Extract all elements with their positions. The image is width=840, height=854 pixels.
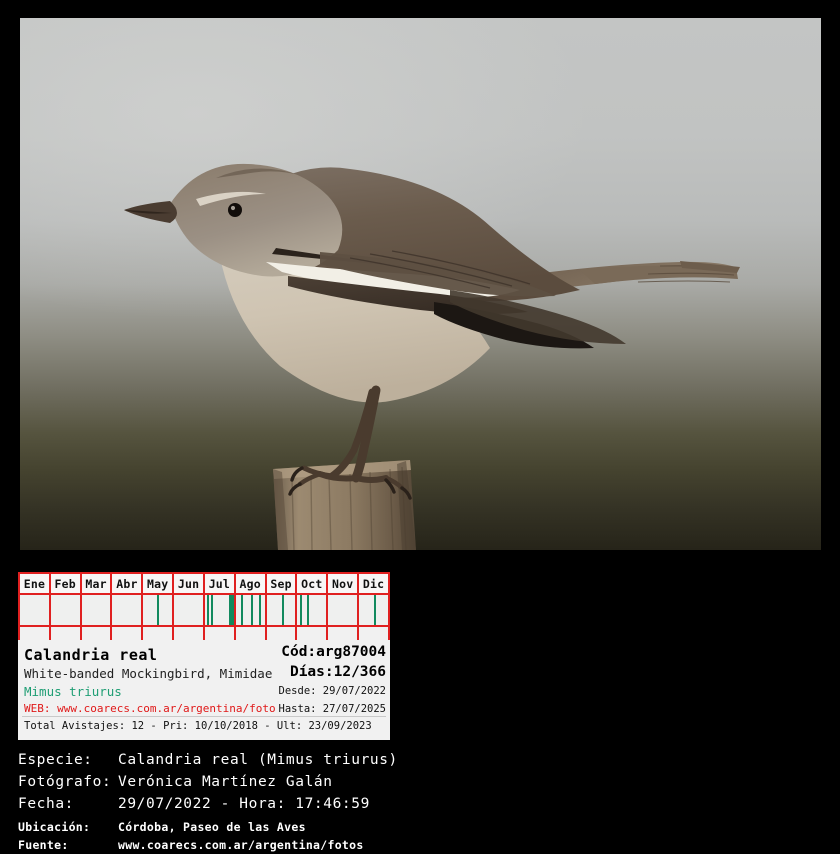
calendar-cell-oct — [297, 595, 328, 625]
sighting-tick — [300, 595, 302, 625]
meta-value-fuente[interactable]: www.coarecs.com.ar/argentina/fotos — [118, 838, 364, 852]
calendar-month-jun[interactable]: Jun — [174, 574, 205, 593]
calendar-cell-jul — [205, 595, 236, 625]
sighting-tick — [207, 595, 209, 625]
card-date-from: Desde: 29/07/2022 — [279, 685, 386, 697]
bird-photo — [20, 18, 821, 550]
meta-value-ubicacion: Córdoba, Paseo de las Aves — [118, 820, 306, 834]
species-scientific-name: Mimus triurus — [24, 684, 122, 699]
card-date-to: Hasta: 27/07/2025 — [279, 703, 386, 715]
calendar-foot-nov — [328, 627, 359, 640]
sighting-tick — [282, 595, 284, 625]
calendar-cell-mar — [82, 595, 113, 625]
sighting-tick — [374, 595, 376, 625]
calendar-cell-jun — [174, 595, 205, 625]
bird-illustration — [20, 18, 821, 550]
calendar-foot-sep — [267, 627, 298, 640]
photo-metadata: Especie: Calandria real (Mimus triurus) … — [0, 748, 840, 854]
card-code: Cód:arg87004 — [281, 644, 386, 660]
sighting-tick — [259, 595, 261, 625]
sighting-tick — [307, 595, 309, 625]
calendar-foot-jul — [205, 627, 236, 640]
calendar-cell-nov — [328, 595, 359, 625]
calendar-month-header: EneFebMarAbrMayJunJulAgoSepOctNovDic — [18, 572, 390, 595]
card-text-block: Calandria real White-banded Mockingbird,… — [18, 640, 390, 742]
calendar-foot-jun — [174, 627, 205, 640]
calendar-month-ene[interactable]: Ene — [18, 574, 51, 593]
calendar-month-nov[interactable]: Nov — [328, 574, 359, 593]
calendar-foot-feb — [51, 627, 82, 640]
card-web-link[interactable]: WEB: www.coarecs.com.ar/argentina/foto — [24, 702, 276, 715]
calendar-cell-feb — [51, 595, 82, 625]
calendar-month-abr[interactable]: Abr — [112, 574, 143, 593]
calendar-footer-row — [18, 627, 390, 640]
calendar-month-feb[interactable]: Feb — [51, 574, 82, 593]
calendar-month-oct[interactable]: Oct — [297, 574, 328, 593]
calendar-foot-ago — [236, 627, 267, 640]
meta-label-fotografo: Fotógrafo: — [18, 774, 111, 790]
sighting-tick — [157, 595, 159, 625]
calendar-foot-abr — [112, 627, 143, 640]
meta-value-fotografo: Verónica Martínez Galán — [118, 774, 333, 790]
calendar-month-mar[interactable]: Mar — [82, 574, 113, 593]
calendar-cell-ago — [236, 595, 267, 625]
calendar-month-may[interactable]: May — [143, 574, 174, 593]
card-divider — [22, 716, 386, 717]
calendar-foot-mar — [82, 627, 113, 640]
sighting-card: EneFebMarAbrMayJunJulAgoSepOctNovDic Cal… — [18, 572, 390, 740]
sighting-tick — [241, 595, 243, 625]
calendar-month-sep[interactable]: Sep — [267, 574, 298, 593]
calendar-month-ago[interactable]: Ago — [236, 574, 267, 593]
calendar-foot-dic — [359, 627, 390, 640]
calendar-tick-row — [18, 595, 390, 627]
meta-label-fecha: Fecha: — [18, 796, 74, 812]
card-days: Días:12/366 — [290, 664, 386, 680]
meta-value-especie: Calandria real (Mimus triurus) — [118, 752, 398, 768]
calendar-foot-may — [143, 627, 174, 640]
meta-label-fuente: Fuente: — [18, 838, 69, 852]
species-common-name-en: White-banded Mockingbird, Mimidae — [24, 666, 272, 681]
meta-label-especie: Especie: — [18, 752, 93, 768]
meta-label-ubicacion: Ubicación: — [18, 820, 90, 834]
bird-eye — [228, 203, 242, 217]
card-total-sightings: Total Avistajes: 12 - Pri: 10/10/2018 - … — [24, 720, 372, 732]
calendar-cell-sep — [267, 595, 298, 625]
calendar-month-jul[interactable]: Jul — [205, 574, 236, 593]
species-common-name-es: Calandria real — [24, 646, 157, 664]
calendar-foot-oct — [297, 627, 328, 640]
calendar-foot-ene — [18, 627, 51, 640]
calendar-cell-may — [143, 595, 174, 625]
calendar-cell-abr — [112, 595, 143, 625]
calendar-cell-ene — [18, 595, 51, 625]
calendar-cell-dic — [359, 595, 390, 625]
sighting-tick — [211, 595, 213, 625]
meta-value-fecha: 29/07/2022 - Hora: 17:46:59 — [118, 796, 370, 812]
sighting-calendar[interactable]: EneFebMarAbrMayJunJulAgoSepOctNovDic — [18, 572, 390, 640]
sighting-tick — [229, 595, 234, 625]
sighting-tick — [251, 595, 253, 625]
calendar-month-dic[interactable]: Dic — [359, 574, 390, 593]
